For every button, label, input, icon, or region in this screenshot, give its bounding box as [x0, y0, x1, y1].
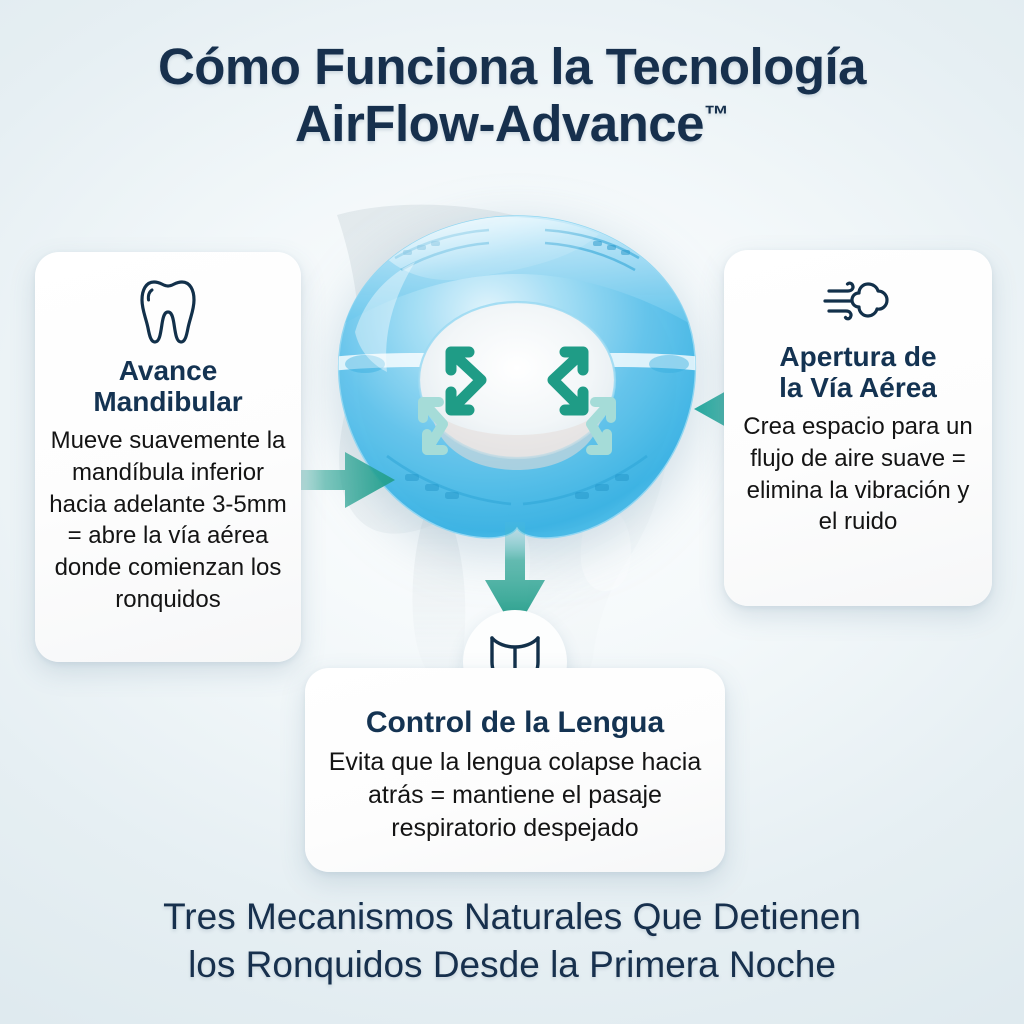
card-right-title-line2: la Vía Aérea [779, 372, 937, 403]
card-airway-opening[interactable]: Apertura de la Vía Aérea Crea espacio pa… [724, 250, 992, 606]
title-brand: AirFlow-Advance [295, 95, 704, 152]
card-right-title-line1: Apertura de [779, 341, 936, 372]
trademark-symbol: ™ [704, 101, 729, 129]
footer-line-1: Tres Mecanismos Naturales Que Detienen [0, 893, 1024, 940]
card-left-title-line2: Mandibular [93, 386, 242, 417]
footer-tagline: Tres Mecanismos Naturales Que Detienen l… [0, 893, 1024, 988]
card-right-body: Crea espacio para un flujo de aire suave… [738, 411, 978, 539]
title-line-2: AirFlow-Advance™ [0, 95, 1024, 152]
card-left-title-line1: Avance [119, 355, 218, 386]
card-left-title: Avance Mandibular [47, 355, 289, 418]
card-left-body: Mueve suavemente la mandíbula inferior h… [47, 425, 289, 616]
footer-line-2: los Ronquidos Desde la Primera Noche [0, 941, 1024, 988]
card-right-title: Apertura de la Vía Aérea [738, 341, 978, 404]
anti-snoring-mouthpiece [331, 212, 703, 542]
tooth-icon [139, 276, 197, 346]
infographic-canvas: Cómo Funciona la Tecnología AirFlow-Adva… [0, 0, 1024, 1024]
card-bottom-title: Control de la Lengua [321, 706, 709, 740]
page-title: Cómo Funciona la Tecnología AirFlow-Adva… [0, 38, 1024, 152]
card-bottom-body: Evita que la lengua colapse hacia atrás … [321, 746, 709, 845]
card-mandibular-advancement[interactable]: Avance Mandibular Mueve suavemente la ma… [35, 252, 301, 662]
card-tongue-control[interactable]: Control de la Lengua Evita que la lengua… [305, 668, 725, 872]
title-line-1: Cómo Funciona la Tecnología [158, 38, 866, 95]
wind-icon [821, 274, 895, 332]
